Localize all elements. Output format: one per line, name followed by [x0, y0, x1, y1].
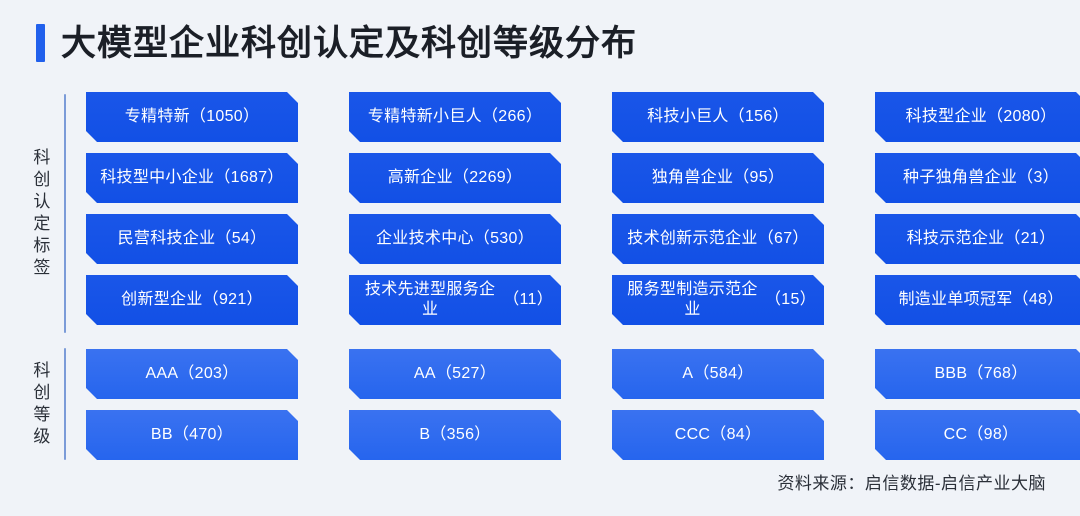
badge-item[interactable]: 科技示范企业（21）: [875, 214, 1080, 264]
badge-item[interactable]: 企业技术中心（530）: [349, 214, 561, 264]
badge-row: AAA（203） AA（527） A（584） BBB（768）: [86, 349, 1058, 399]
badge-item[interactable]: 技术创新示范企业（67）: [612, 214, 824, 264]
badge-row: 创新型企业（921） 技术先进型服务企业（11） 服务型制造示范企业（15） 制…: [86, 275, 1058, 325]
badge-item[interactable]: AAA（203）: [86, 349, 298, 399]
badge-item[interactable]: CCC（84）: [612, 410, 824, 460]
section-label-grades-text: 科创等级: [30, 361, 49, 449]
badge-item[interactable]: 高新企业（2269）: [349, 153, 561, 203]
badge-item[interactable]: 民营科技企业（54）: [86, 214, 298, 264]
section-divider-grades: [64, 348, 66, 460]
badge-item[interactable]: 专精特新小巨人（266）: [349, 92, 561, 142]
badge-item[interactable]: B（356）: [349, 410, 561, 460]
badge-item[interactable]: BB（470）: [86, 410, 298, 460]
section-spacer: [86, 336, 1058, 349]
badge-row: BB（470） B（356） CCC（84） CC（98）: [86, 410, 1058, 460]
source-note: 资料来源：启信数据-启信产业大脑: [777, 469, 1046, 494]
title-accent-bar: [36, 24, 45, 62]
badge-item[interactable]: CC（98）: [875, 410, 1080, 460]
badge-row: 民营科技企业（54） 企业技术中心（530） 技术创新示范企业（67） 科技示范…: [86, 214, 1058, 264]
badge-item[interactable]: AA（527）: [349, 349, 561, 399]
badge-item[interactable]: 创新型企业（921）: [86, 275, 298, 325]
badge-row: 科技型中小企业（1687） 高新企业（2269） 独角兽企业（95） 种子独角兽…: [86, 153, 1058, 203]
section-divider-tags: [64, 94, 66, 333]
badge-item[interactable]: 科技型企业（2080）: [875, 92, 1080, 142]
section-label-grades: 科创等级: [22, 348, 56, 461]
badge-item[interactable]: BBB（768）: [875, 349, 1080, 399]
page-title: 大模型企业科创认定及科创等级分布: [36, 24, 637, 62]
page-title-text: 大模型企业科创认定及科创等级分布: [61, 26, 637, 61]
badge-row: 专精特新（1050） 专精特新小巨人（266） 科技小巨人（156） 科技型企业…: [86, 92, 1058, 142]
badge-item[interactable]: 种子独角兽企业（3）: [875, 153, 1080, 203]
badge-item[interactable]: 专精特新（1050）: [86, 92, 298, 142]
badge-item[interactable]: 服务型制造示范企业（15）: [612, 275, 824, 325]
badge-item[interactable]: 独角兽企业（95）: [612, 153, 824, 203]
badge-item[interactable]: 技术先进型服务企业（11）: [349, 275, 561, 325]
badge-grid: 专精特新（1050） 专精特新小巨人（266） 科技小巨人（156） 科技型企业…: [86, 92, 1058, 471]
badge-item[interactable]: 科技型中小企业（1687）: [86, 153, 298, 203]
badge-item[interactable]: 科技小巨人（156）: [612, 92, 824, 142]
badge-item[interactable]: 制造业单项冠军（48）: [875, 275, 1080, 325]
section-label-tags-text: 科创认定标签: [30, 148, 49, 280]
section-label-tags: 科创认定标签: [22, 92, 56, 335]
badge-item[interactable]: A（584）: [612, 349, 824, 399]
